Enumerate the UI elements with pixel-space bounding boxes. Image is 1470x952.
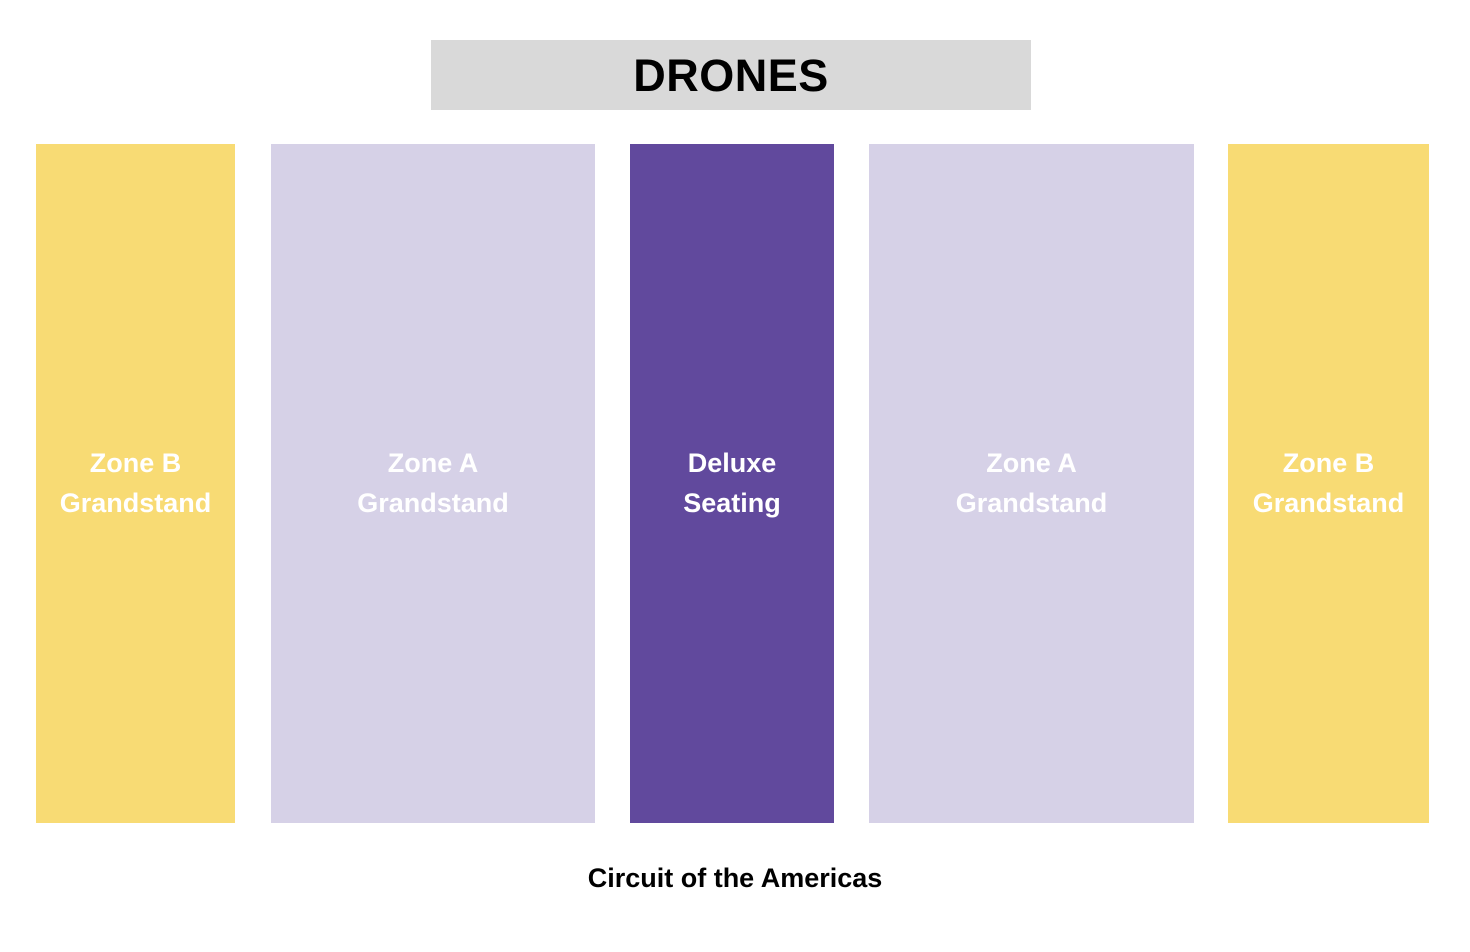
venue-name: Circuit of the Americas <box>588 863 883 893</box>
section-label: Zone B Grandstand <box>54 444 218 522</box>
event-title-banner: DRONES <box>431 40 1031 110</box>
section-zone-a-grandstand-left[interactable]: Zone A Grandstand <box>271 144 595 823</box>
section-zone-b-grandstand-left[interactable]: Zone B Grandstand <box>36 144 235 823</box>
section-label: Zone A Grandstand <box>950 444 1114 522</box>
venue-footer: Circuit of the Americas <box>0 862 1470 894</box>
seating-map: DRONES Zone B GrandstandZone A Grandstan… <box>0 0 1470 952</box>
section-deluxe-seating[interactable]: Deluxe Seating <box>630 144 834 823</box>
event-title: DRONES <box>633 53 829 98</box>
section-label: Deluxe Seating <box>677 444 787 522</box>
section-label: Zone A Grandstand <box>351 444 515 522</box>
section-label: Zone B Grandstand <box>1247 444 1411 522</box>
section-zone-a-grandstand-right[interactable]: Zone A Grandstand <box>869 144 1194 823</box>
sections-container: Zone B GrandstandZone A GrandstandDeluxe… <box>0 144 1470 823</box>
section-zone-b-grandstand-right[interactable]: Zone B Grandstand <box>1228 144 1429 823</box>
